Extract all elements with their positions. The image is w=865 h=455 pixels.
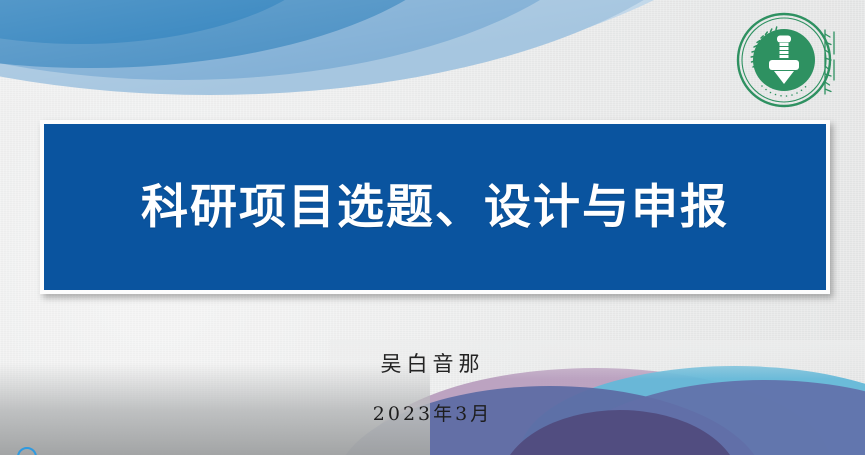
mongolian-script-icon xyxy=(820,26,842,100)
presentation-slide: 科研项目选题、设计与申报 吴白音那 2023年3月 xyxy=(0,0,865,455)
title-banner: 科研项目选题、设计与申报 xyxy=(40,120,830,294)
page-title: 科研项目选题、设计与申报 xyxy=(141,184,729,231)
loading-spinner-icon xyxy=(17,447,37,455)
author-name: 吴白音那 xyxy=(0,348,865,378)
presentation-date: 2023年3月 xyxy=(0,399,865,426)
university-logo xyxy=(736,12,832,108)
